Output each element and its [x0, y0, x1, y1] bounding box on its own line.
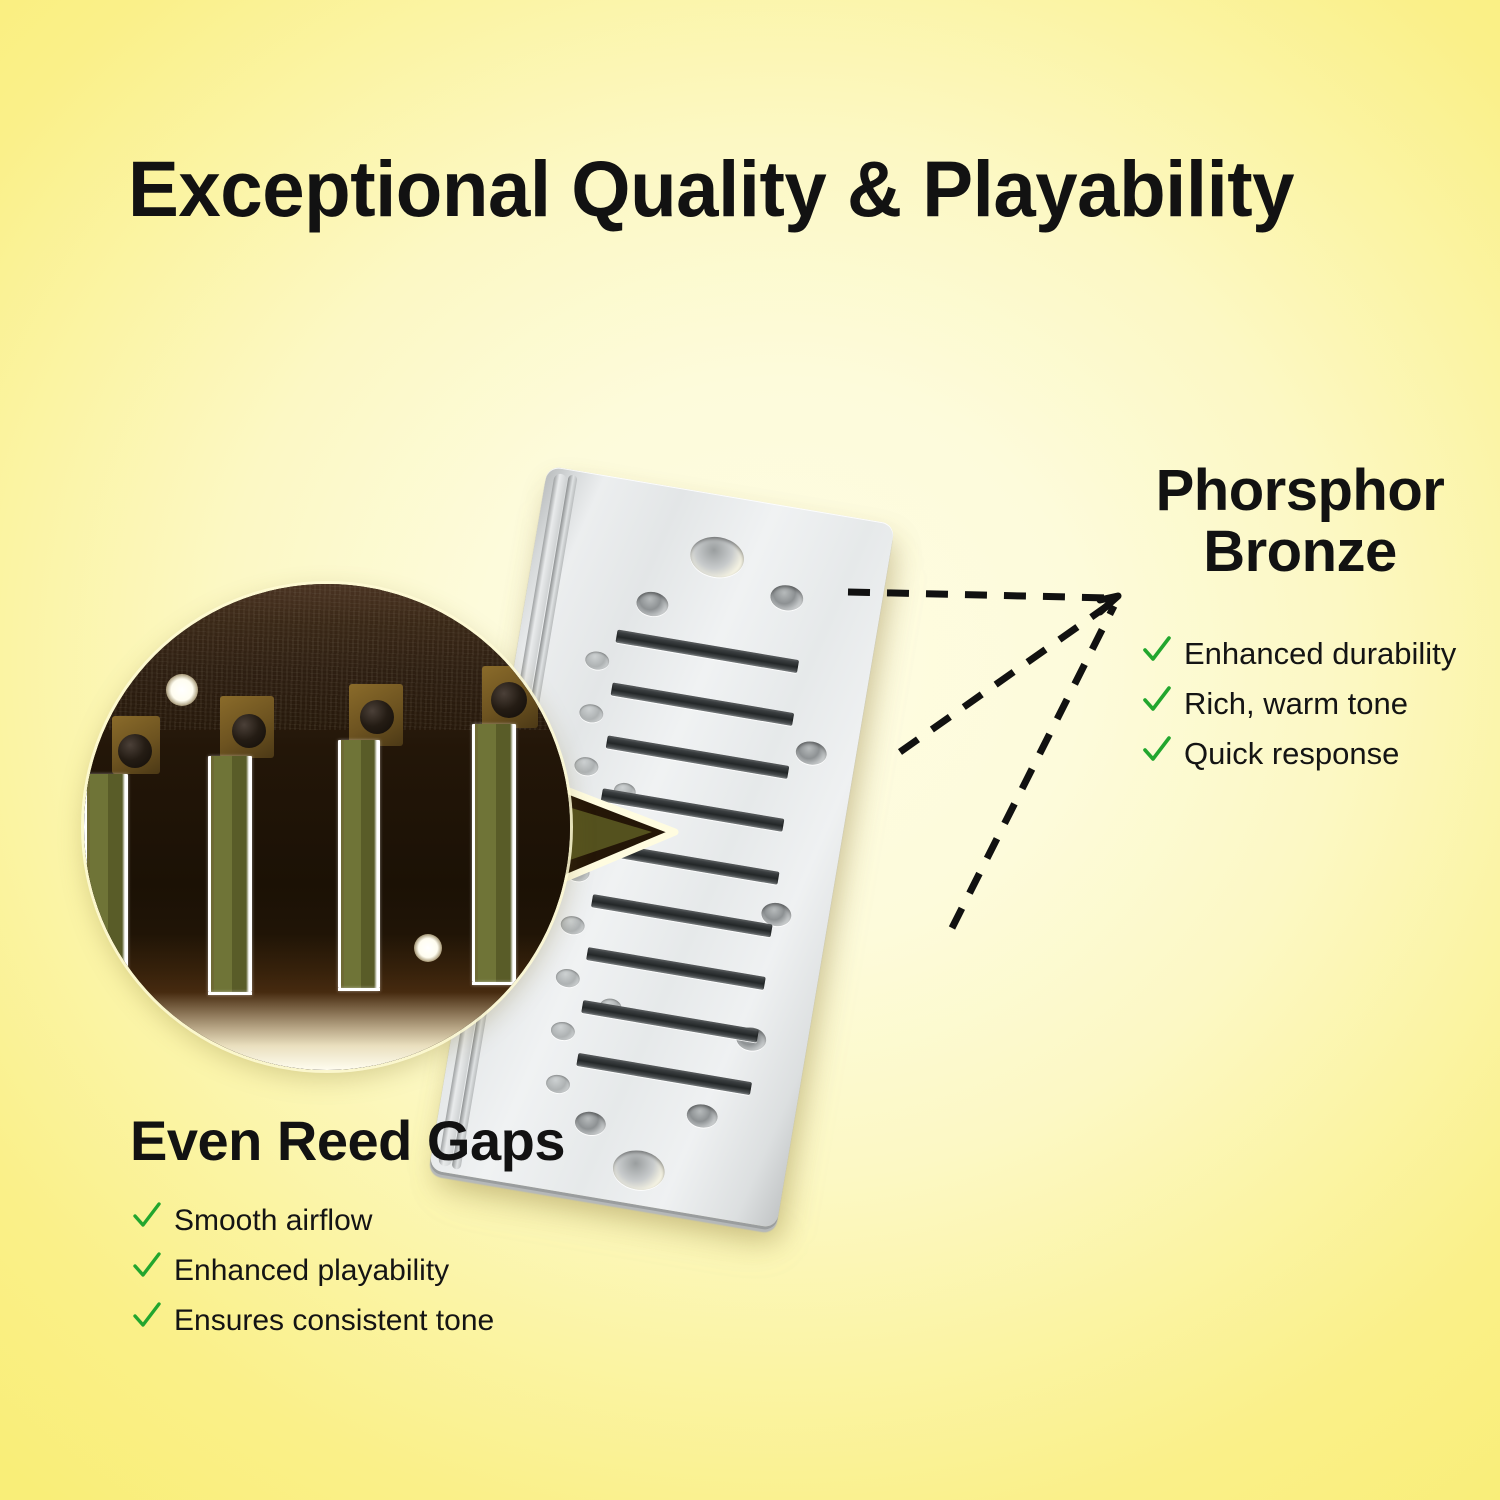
check-icon [1142, 635, 1172, 665]
reed-slot [586, 947, 766, 990]
plate-hole-lower-right [685, 1102, 719, 1130]
check-icon [132, 1301, 162, 1331]
plate-hole-upper-right [768, 583, 805, 613]
right-heading-line-2: Bronze [1110, 521, 1490, 582]
bullet-label: Enhanced playability [174, 1254, 449, 1288]
bullet-item: Quick response [1142, 734, 1456, 784]
reed-gap-slot [84, 774, 128, 972]
bullet-label: Enhanced durability [1184, 636, 1456, 672]
reed-slot [581, 1000, 759, 1043]
bullet-item: Smooth airflow [132, 1200, 494, 1250]
reed-gap-slot [208, 756, 252, 992]
magnifier-circle [84, 584, 570, 1070]
plate-hole-upper-left [635, 589, 671, 618]
reed-slot [615, 630, 799, 674]
bullet-item: Rich, warm tone [1142, 684, 1456, 734]
bullet-label: Smooth airflow [174, 1204, 372, 1238]
plate-mount-hole-top [687, 533, 747, 581]
right-panel-bullets: Enhanced durability Rich, warm tone Quic… [1142, 634, 1456, 784]
reed-slot [576, 1053, 752, 1095]
left-panel-heading: Even Reed Gaps [130, 1108, 565, 1173]
check-icon [1142, 735, 1172, 765]
reed-slot [611, 682, 795, 726]
plate-hole-lower-left [573, 1110, 607, 1138]
right-panel-heading: Phorsphor Bronze [1110, 460, 1490, 583]
bullet-item: Enhanced playability [132, 1250, 494, 1300]
specular-highlight [414, 934, 442, 962]
plate-dimple [578, 702, 605, 724]
reed-rivet [360, 700, 394, 734]
reed-rivet [491, 682, 527, 718]
check-icon [132, 1251, 162, 1281]
reed-gap-slot [472, 724, 516, 982]
bullet-label: Quick response [1184, 736, 1399, 772]
plate-hole-mid-right-1 [794, 739, 828, 767]
check-icon [1142, 685, 1172, 715]
bullet-item: Ensures consistent tone [132, 1300, 494, 1350]
reed-gap-slot [338, 740, 380, 988]
check-icon [132, 1201, 162, 1231]
plate-dimple [545, 1073, 572, 1095]
product-infographic: Exceptional Quality & Playability [0, 0, 1500, 1500]
plate-dimple [584, 650, 611, 672]
reed-rivet [118, 734, 152, 768]
bullet-item: Enhanced durability [1142, 634, 1456, 684]
right-heading-line-1: Phorsphor [1110, 460, 1490, 521]
plate-mount-hole-bottom [610, 1147, 668, 1194]
reed-rivet [232, 714, 266, 748]
specular-highlight [166, 674, 198, 706]
page-title: Exceptional Quality & Playability [128, 148, 1344, 230]
bullet-label: Ensures consistent tone [174, 1304, 494, 1338]
left-panel-bullets: Smooth airflow Enhanced playability Ensu… [132, 1200, 494, 1350]
bullet-label: Rich, warm tone [1184, 686, 1408, 722]
